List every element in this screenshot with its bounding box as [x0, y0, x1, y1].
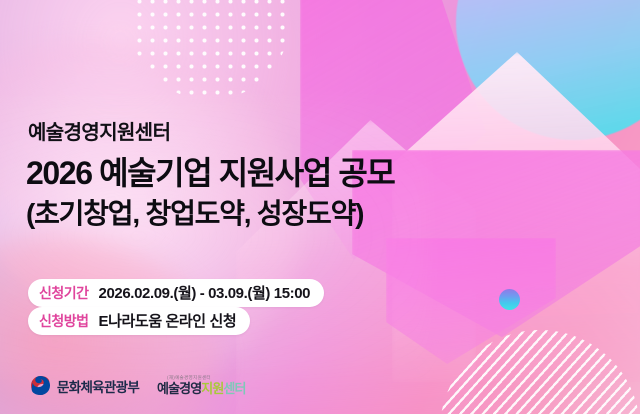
banner-subheadline: (초기창업, 창업도약, 성장도약): [26, 198, 363, 229]
kams-logo-text: 예술경영지원센터: [157, 382, 246, 395]
kams-logo-part1: 예술경영: [157, 381, 201, 396]
footer-logo-group: 문화체육관광부 (재)예술경영지원센터 예술경영지원센터: [30, 375, 246, 396]
kams-logo: (재)예술경영지원센터 예술경영지원센터: [157, 376, 246, 395]
ministry-logo: 문화체육관광부: [30, 375, 139, 396]
kams-logo-subtext: (재)예술경영지원센터: [167, 376, 246, 381]
kams-logo-part2: 지원: [201, 381, 223, 396]
info-row-application-period: 신청기간 2026.02.09.(월) - 03.09.(월) 15:00: [28, 279, 324, 307]
info-row-application-method: 신청방법 E나라도움 온라인 신청: [28, 307, 250, 335]
banner-content: 예술경영지원센터 2026 예술기업 지원사업 공모 (초기창업, 창업도약, …: [0, 0, 640, 414]
organization-name: 예술경영지원센터: [28, 122, 170, 144]
info-value: 2026.02.09.(월) - 03.09.(월) 15:00: [99, 282, 311, 303]
ministry-logo-text: 문화체육관광부: [57, 376, 139, 396]
info-label: 신청기간: [39, 283, 89, 303]
banner-headline: 2026 예술기업 지원사업 공모: [26, 156, 394, 192]
taegeuk-icon: [30, 375, 51, 396]
promo-banner: 예술경영지원센터 2026 예술기업 지원사업 공모 (초기창업, 창업도약, …: [0, 0, 640, 414]
info-label: 신청방법: [39, 311, 89, 331]
info-pill-list: 신청기간 2026.02.09.(월) - 03.09.(월) 15:00 신청…: [28, 279, 324, 335]
info-value: E나라도움 온라인 신청: [99, 310, 237, 331]
kams-logo-part3: 센터: [223, 381, 245, 396]
